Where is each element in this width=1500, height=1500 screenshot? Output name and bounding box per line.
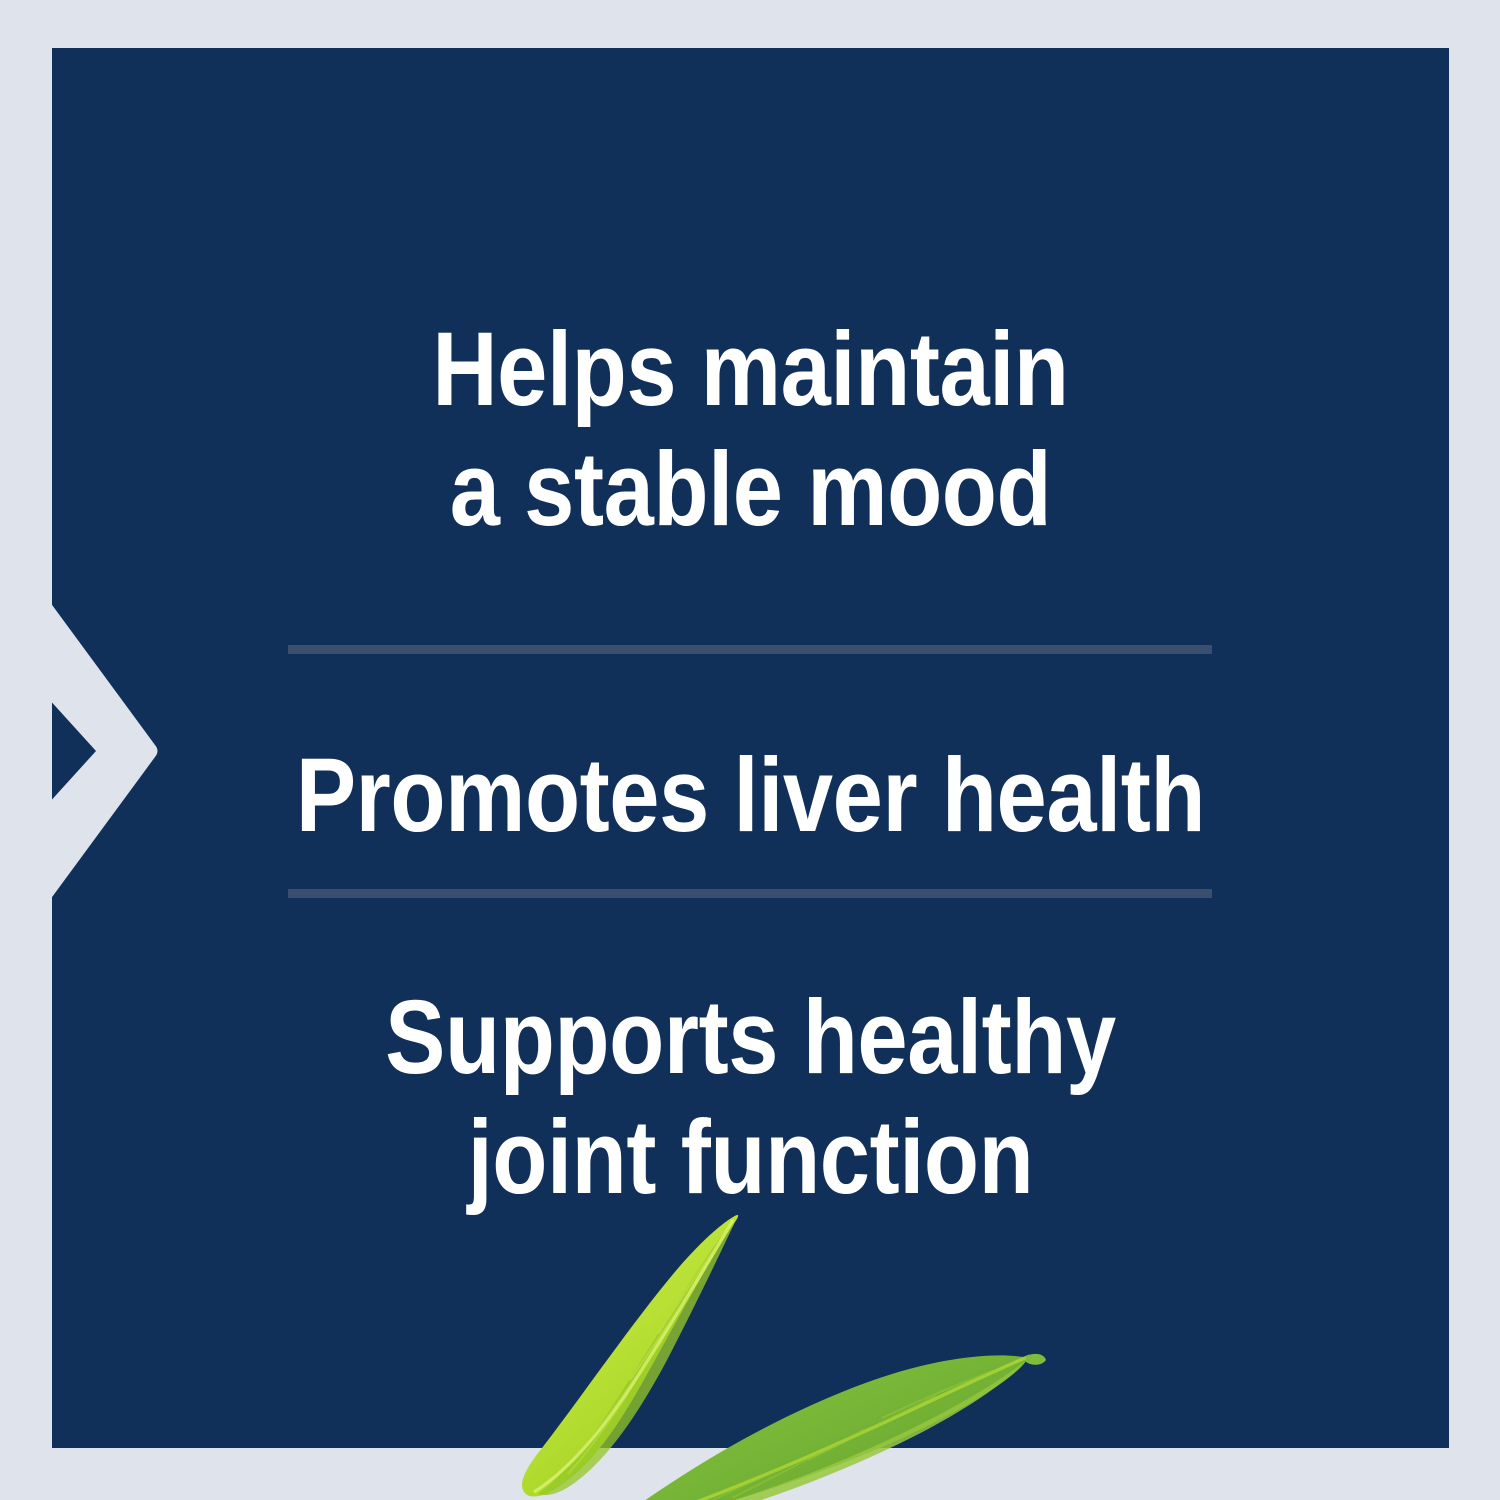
product-benefits-graphic: Helps maintain a stable mood Promotes li… xyxy=(0,0,1500,1500)
divider-after-mood xyxy=(288,645,1212,654)
benefit-item-liver: Promotes liver health xyxy=(150,736,1351,856)
benefit-item-joint: Supports healthy joint function xyxy=(150,978,1351,1217)
divider-after-liver xyxy=(288,889,1212,898)
benefits-list: Helps maintain a stable mood Promotes li… xyxy=(52,48,1449,1448)
benefit-item-mood: Helps maintain a stable mood xyxy=(150,310,1351,549)
